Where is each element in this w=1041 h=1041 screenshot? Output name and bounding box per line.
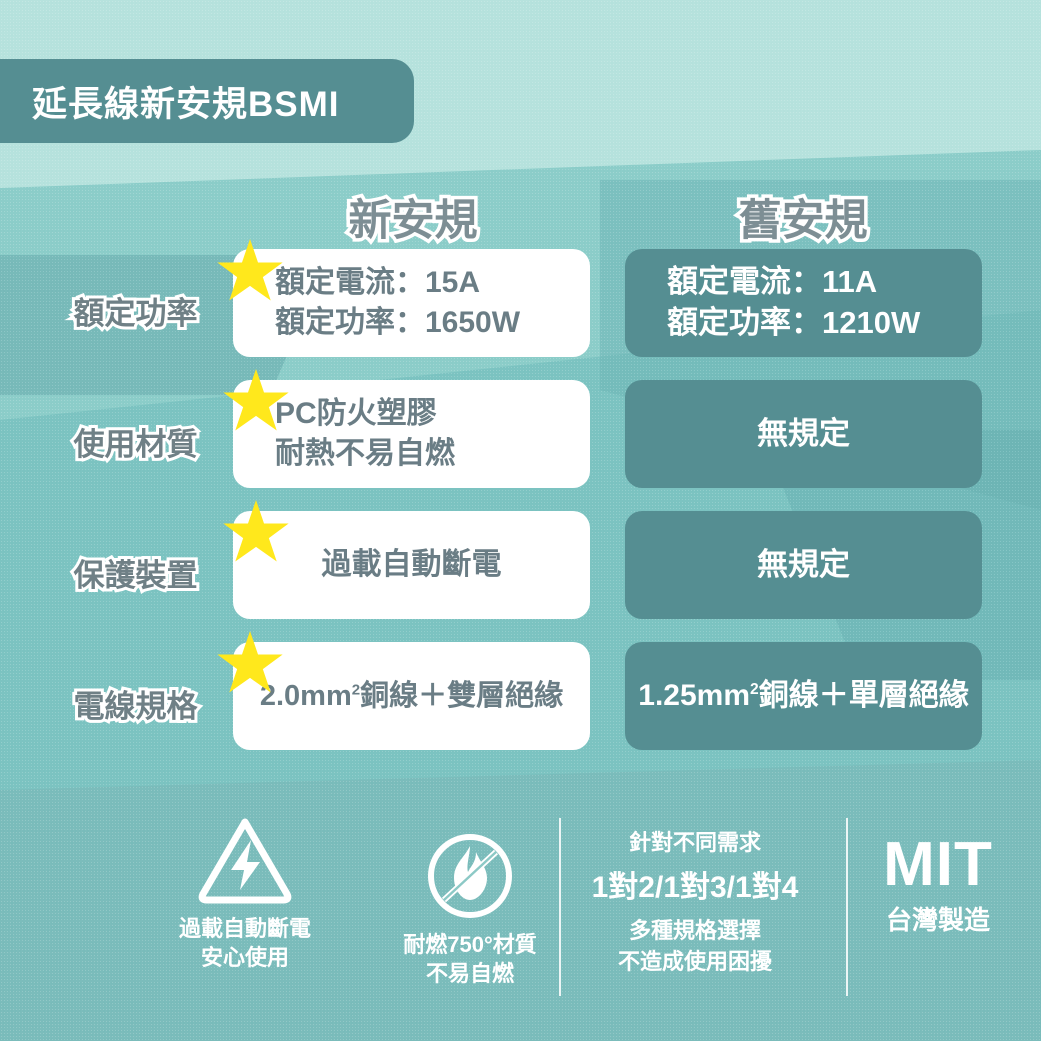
cell-text: 額定電流：15A 額定功率：1650W [275, 263, 520, 342]
row-label-material: 使用材質 [48, 419, 223, 464]
cell-text: 過載自動斷電 [322, 545, 502, 585]
cell-new-material: PC防火塑膠 耐熱不易自燃 [233, 380, 590, 488]
feature-flame-resistant: 耐燃750°材質 不易自燃 [345, 828, 595, 988]
cell-text: 無規定 [757, 414, 850, 455]
cell-line-2: 額定功率：1210W [667, 303, 920, 344]
cell-old-material: 無規定 [625, 380, 982, 488]
cell-old-protection: 無規定 [625, 511, 982, 619]
feature-spec-variants: 針對不同需求 1對2/1對3/1對4 多種規格選擇 不造成使用困擾 [570, 828, 820, 977]
feature-made-in-taiwan: MIT 台灣製造 [838, 834, 1038, 937]
row-label-protection: 保護裝置 [48, 550, 223, 595]
feature-caption-line-2: 不易自燃 [345, 959, 595, 988]
wire-detail: 銅線＋單層絕緣 [759, 679, 969, 712]
cell-line-1: 額定電流：15A [275, 263, 520, 303]
column-header-old: 舊安規 [633, 186, 973, 248]
wire-gauge-superscript: 2 [352, 681, 360, 698]
no-fire-icon [345, 828, 595, 924]
page-title: 延長線新安規BSMI [32, 76, 340, 127]
wire-gauge-superscript: 2 [750, 681, 759, 698]
cell-new-rated-power: 額定電流：15A 額定功率：1650W [233, 249, 590, 357]
spec-headline: 1對2/1對3/1對4 [570, 862, 820, 906]
cell-new-protection: 過載自動斷電 [233, 511, 590, 619]
wire-detail: 銅線＋雙層絕緣 [360, 680, 563, 712]
cell-line-2: 耐熱不易自燃 [275, 434, 455, 474]
warning-triangle-bolt-icon [120, 812, 370, 908]
spec-top-line: 針對不同需求 [570, 828, 820, 859]
cell-text: 額定電流：11A 額定功率：1210W [667, 262, 920, 344]
cell-text: 2.0mm2銅線＋雙層絕緣 [260, 677, 563, 715]
cell-new-wire-spec: 2.0mm2銅線＋雙層絕緣 [233, 642, 590, 750]
row-label-rated-power: 額定功率 [48, 288, 223, 333]
feature-overload-protection: 過載自動斷電 安心使用 [120, 812, 370, 972]
cell-text: 無規定 [757, 545, 850, 586]
feature-caption-line-1: 耐燃750°材質 [345, 930, 595, 959]
wire-gauge: 1.25mm [638, 679, 750, 712]
spec-line-2: 不造成使用困擾 [570, 947, 820, 978]
cell-text: 1.25mm2銅線＋單層絕緣 [638, 676, 968, 716]
mit-label: 台灣製造 [838, 900, 1038, 937]
cell-line-1: 額定電流：11A [667, 262, 920, 303]
feature-caption-line-2: 安心使用 [120, 943, 370, 972]
feature-caption: 過載自動斷電 安心使用 [120, 914, 370, 972]
mit-abbreviation: MIT [838, 834, 1038, 896]
spec-line-1: 多種規格選擇 [570, 916, 820, 947]
cell-old-wire-spec: 1.25mm2銅線＋單層絕緣 [625, 642, 982, 750]
page-title-banner: 延長線新安規BSMI [0, 59, 414, 143]
cell-text: PC防火塑膠 耐熱不易自燃 [275, 394, 455, 473]
wire-gauge: 2.0mm [260, 680, 352, 712]
cell-line-1: PC防火塑膠 [275, 394, 455, 434]
column-header-new: 新安規 [243, 186, 583, 248]
feature-caption: 耐燃750°材質 不易自燃 [345, 930, 595, 988]
row-label-wire-spec: 電線規格 [48, 681, 223, 726]
cell-line-2: 額定功率：1650W [275, 303, 520, 343]
cell-old-rated-power: 額定電流：11A 額定功率：1210W [625, 249, 982, 357]
feature-caption-line-1: 過載自動斷電 [120, 914, 370, 943]
infographic-canvas: 延長線新安規BSMI 新安規 舊安規 額定功率 額定電流：15A 額定功率：16… [0, 0, 1041, 1041]
